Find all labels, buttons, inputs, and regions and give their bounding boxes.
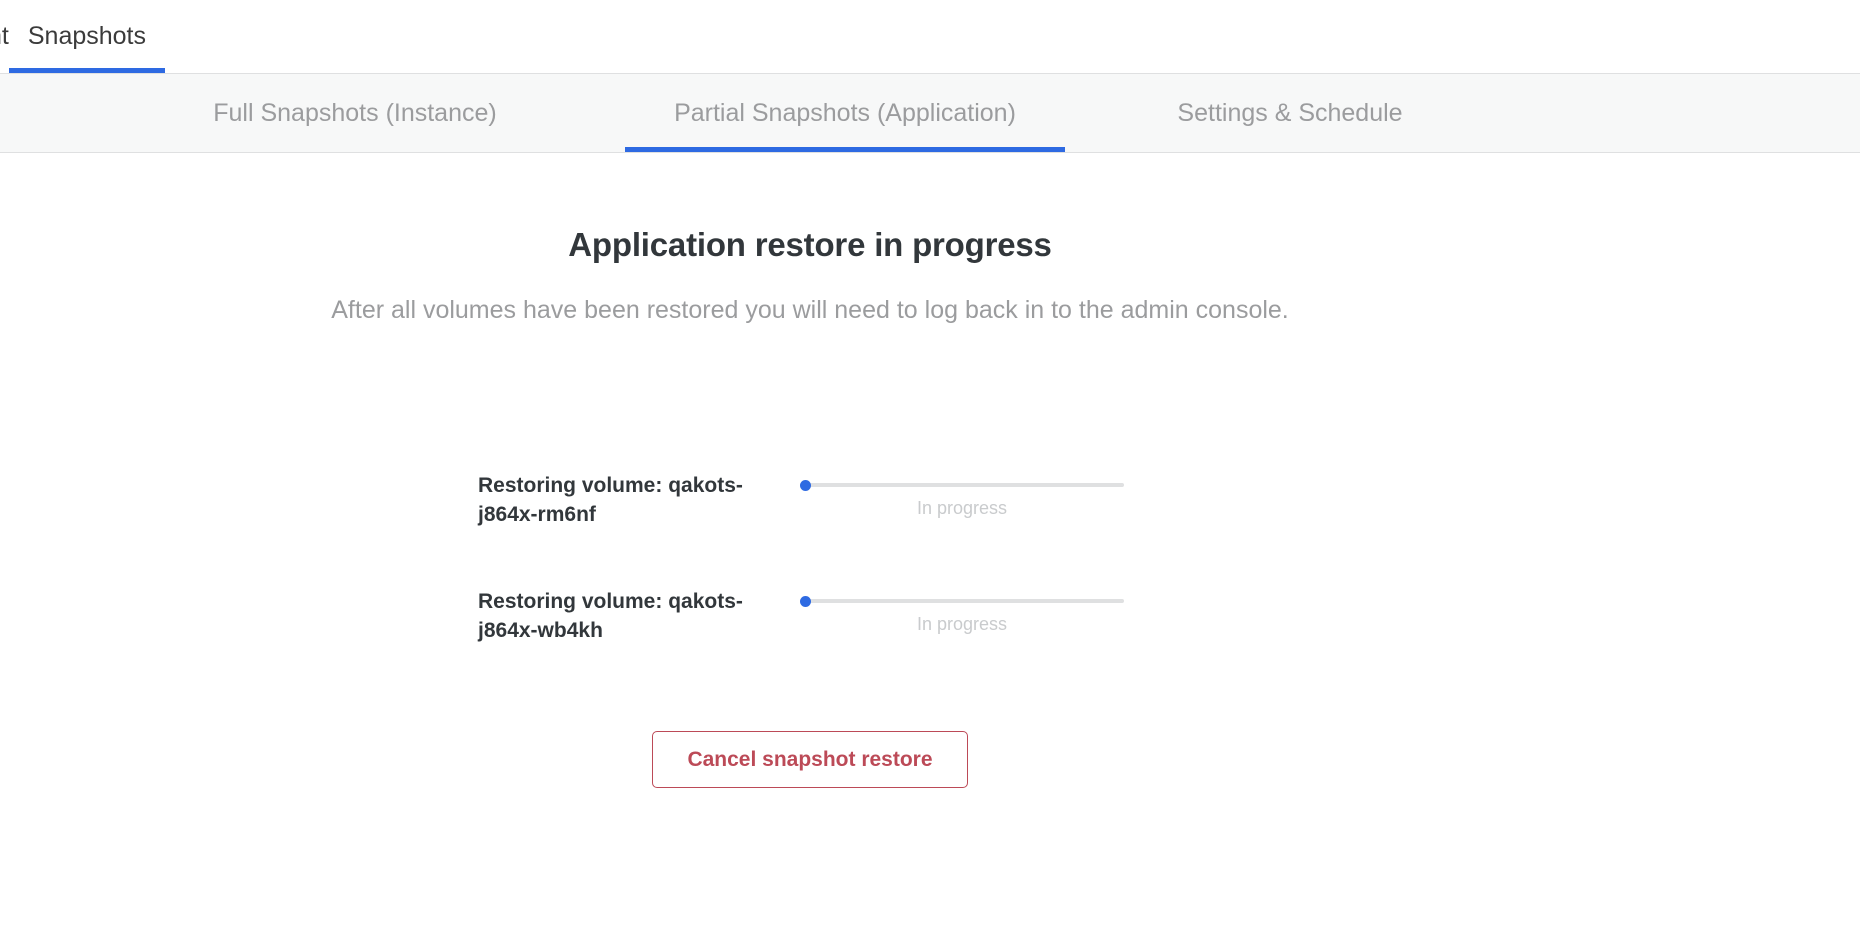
tab-snapshots-label: Snapshots — [28, 22, 146, 51]
progress-status-label: In progress — [800, 498, 1124, 519]
subtab-full-snapshots-indicator — [180, 147, 530, 152]
tab-truncated-label: nt — [0, 22, 9, 51]
subtab-settings-schedule-indicator — [1145, 147, 1435, 152]
subtab-partial-snapshots-application-label: Partial Snapshots (Application) — [674, 99, 1016, 128]
volume-restore-list: Restoring volume: qakots-j864x-rm6nf In … — [478, 471, 1138, 703]
progress-bar-track — [800, 483, 1124, 487]
volume-progress: In progress — [800, 587, 1124, 635]
page-title: Application restore in progress — [0, 226, 1620, 264]
volume-progress: In progress — [800, 471, 1124, 519]
subtab-partial-snapshots-application[interactable]: Partial Snapshots (Application) — [625, 74, 1065, 152]
restore-progress-panel: Application restore in progress After al… — [0, 153, 1860, 952]
page-subtitle: After all volumes have been restored you… — [0, 296, 1620, 325]
top-tab-bar: nt Snapshots — [0, 0, 1860, 73]
cancel-button-container: Cancel snapshot restore — [0, 731, 1620, 788]
subtab-full-snapshots-instance[interactable]: Full Snapshots (Instance) — [180, 74, 530, 152]
progress-bar-knob — [800, 596, 811, 607]
tab-truncated[interactable]: nt — [0, 0, 9, 73]
subtab-settings-schedule-label: Settings & Schedule — [1177, 99, 1402, 128]
volume-restore-row: Restoring volume: qakots-j864x-wb4kh In … — [478, 587, 1138, 703]
subtab-full-snapshots-instance-label: Full Snapshots (Instance) — [213, 99, 496, 128]
volume-label: Restoring volume: qakots-j864x-wb4kh — [478, 587, 754, 645]
sub-tab-bar: Full Snapshots (Instance) Partial Snapsh… — [0, 73, 1860, 153]
subtab-settings-schedule[interactable]: Settings & Schedule — [1145, 74, 1435, 152]
volume-restore-row: Restoring volume: qakots-j864x-rm6nf In … — [478, 471, 1138, 587]
volume-label: Restoring volume: qakots-j864x-rm6nf — [478, 471, 754, 529]
subtab-partial-snapshots-active-indicator — [625, 147, 1065, 152]
progress-bar-track — [800, 599, 1124, 603]
progress-status-label: In progress — [800, 614, 1124, 635]
cancel-snapshot-restore-button[interactable]: Cancel snapshot restore — [652, 731, 967, 788]
progress-bar-knob — [800, 480, 811, 491]
tab-snapshots[interactable]: Snapshots — [9, 0, 165, 73]
